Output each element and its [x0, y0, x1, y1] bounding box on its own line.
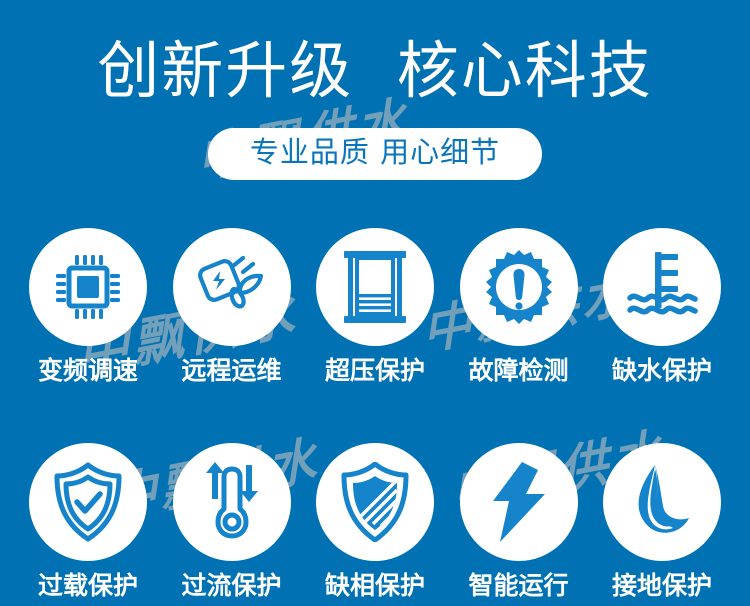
- subtitle-text: 专业品质 用心细节: [250, 135, 500, 169]
- headline-text: 创新升级 核心科技: [97, 38, 652, 103]
- icon-circle: [316, 228, 434, 346]
- icon-circle: [29, 443, 147, 561]
- feature-label: 故障检测: [453, 357, 585, 386]
- lightning-bolt-icon: [488, 461, 550, 543]
- feature-row: 过载保护 过流保护: [22, 443, 728, 601]
- subtitle-pill: 专业品质 用心细节: [208, 128, 542, 180]
- feature-item-queshui-baohu[interactable]: 缺水保护: [596, 228, 728, 386]
- icon-circle: [460, 228, 578, 346]
- icon-circle: [603, 443, 721, 561]
- feature-item-jiedi-baohu[interactable]: 接地保护: [596, 443, 728, 601]
- feature-item-guoliu-baohu[interactable]: 过流保护: [166, 443, 298, 601]
- water-drop-leaf-icon: [625, 462, 699, 542]
- feature-label: 超压保护: [309, 357, 441, 386]
- shield-stripes-icon: [339, 462, 411, 542]
- press-machine-icon: [340, 248, 410, 326]
- icon-circle: [173, 443, 291, 561]
- feature-label: 过载保护: [22, 572, 154, 601]
- icon-circle: [173, 228, 291, 346]
- feature-item-bianpin-tiaosu[interactable]: 变频调速: [22, 228, 154, 386]
- promo-poster: 中飘供水 中飘供水 中飘供水 中飘供水 中飘供水 创新升级 核心科技 专业品质 …: [0, 0, 750, 606]
- cpu-chip-icon: [50, 249, 126, 325]
- feature-row: 变频调速 远程运维: [22, 228, 728, 386]
- icon-circle: [316, 443, 434, 561]
- water-level-icon: [622, 248, 702, 326]
- icon-circle: [460, 443, 578, 561]
- feature-item-zhineng-yunxing[interactable]: 智能运行: [453, 443, 585, 601]
- feature-item-chaoya-baohu[interactable]: 超压保护: [309, 228, 441, 386]
- feature-label: 缺相保护: [309, 572, 441, 601]
- feature-label: 缺水保护: [596, 357, 728, 386]
- icon-circle: [29, 228, 147, 346]
- feature-label: 变频调速: [22, 357, 154, 386]
- feature-grid: 变频调速 远程运维: [22, 228, 728, 601]
- gear-alert-icon: [480, 248, 558, 326]
- feature-item-yuancheng-yunwei[interactable]: 远程运维: [166, 228, 298, 386]
- feature-item-guozai-baohu[interactable]: 过载保护: [22, 443, 154, 601]
- icon-circle: [603, 228, 721, 346]
- subtitle-container: 专业品质 用心细节: [0, 128, 750, 180]
- feature-item-quexiang-baohu[interactable]: 缺相保护: [309, 443, 441, 601]
- shield-check-icon: [52, 462, 124, 542]
- feature-label: 远程运维: [166, 357, 298, 386]
- feature-label: 接地保护: [596, 572, 728, 601]
- feature-item-guzhang-jiance[interactable]: 故障检测: [453, 228, 585, 386]
- plug-leaf-icon: [193, 248, 271, 326]
- thermometer-arrows-icon: [196, 461, 268, 543]
- headline: 创新升级 核心科技: [0, 38, 750, 103]
- feature-label: 过流保护: [166, 572, 298, 601]
- feature-label: 智能运行: [453, 572, 585, 601]
